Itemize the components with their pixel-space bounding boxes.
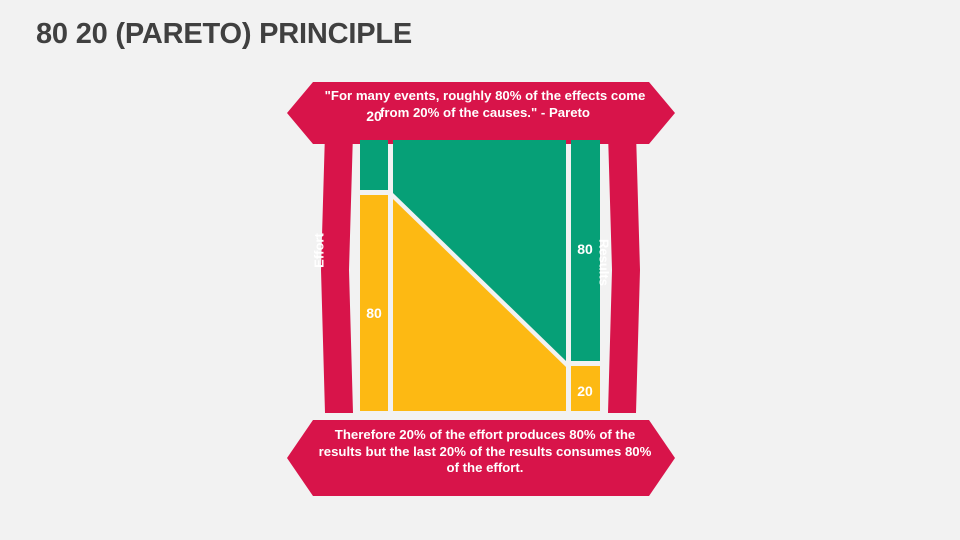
- results-segment-80-value: 80: [571, 241, 599, 257]
- effort-segment-20-value: 20: [360, 108, 388, 124]
- results-segment-20-value: 20: [571, 383, 599, 399]
- effort-segment-80-value: 80: [360, 305, 388, 321]
- bottom-banner-text: Therefore 20% of the effort produces 80%…: [315, 427, 655, 477]
- effort-segment-20: [360, 140, 388, 190]
- results-band-shape: [608, 133, 640, 413]
- pareto-diagram: "For many events, roughly 80% of the eff…: [275, 75, 695, 500]
- effort-axis-label: Effort: [312, 219, 327, 283]
- slide-canvas: 80 20 (PARETO) PRINCIPLE ": [0, 0, 960, 540]
- page-title: 80 20 (PARETO) PRINCIPLE: [36, 18, 412, 51]
- effort-segment-80: [360, 195, 388, 411]
